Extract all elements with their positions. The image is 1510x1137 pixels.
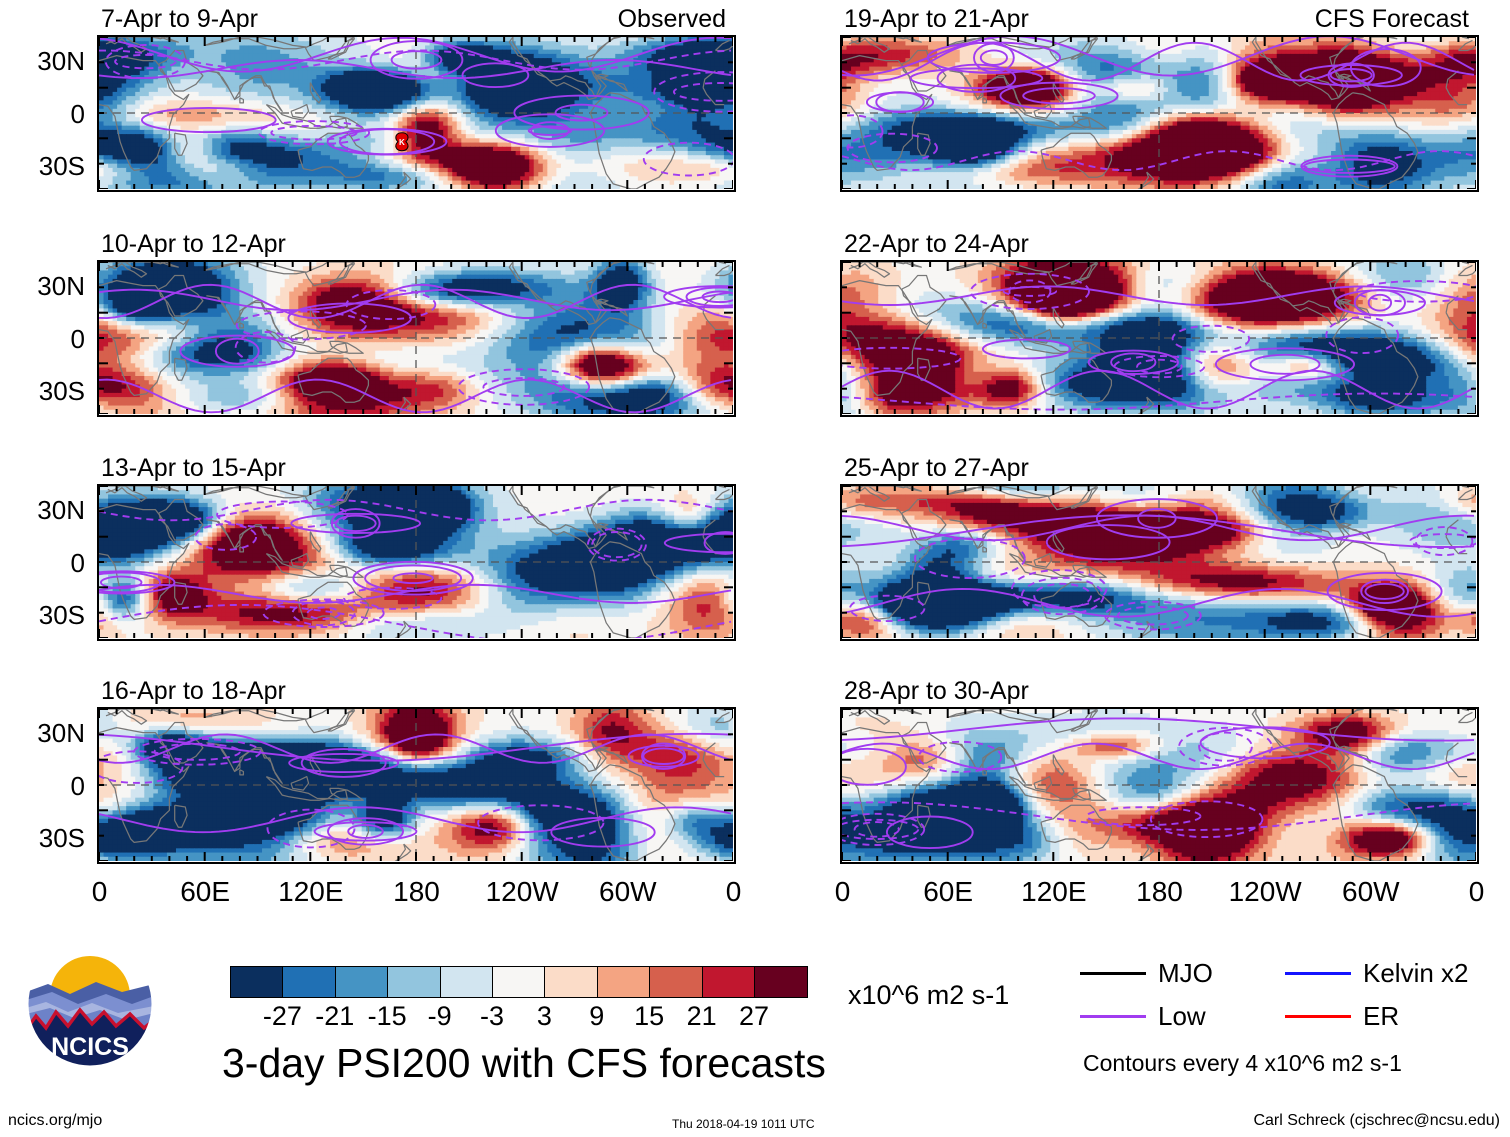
x-axis-label-left-180: 180	[357, 878, 477, 906]
map-p1: K	[97, 35, 736, 192]
x-axis-label-right-60E: 60E	[888, 878, 1008, 906]
legend-label: Kelvin x2	[1363, 960, 1469, 986]
footer-link-ncics[interactable]: ncics.org/mjo	[8, 1113, 102, 1129]
colorbar-swatch-7	[597, 966, 651, 998]
cyclone-marker: K	[396, 133, 408, 151]
colorbar-swatch-8	[649, 966, 703, 998]
panel-title-p5: 19-Apr to 21-Apr	[844, 7, 1029, 32]
y-axis-label-30S: 30S	[9, 602, 85, 628]
x-axis-label-right-180: 180	[1100, 878, 1220, 906]
panel-title-p8: 28-Apr to 30-Apr	[844, 679, 1029, 704]
colorbar-swatch-4	[440, 966, 494, 998]
x-axis-label-left-0: 0	[40, 878, 160, 906]
map-p5	[840, 35, 1479, 192]
column-header-forecast: CFS Forecast	[1315, 7, 1469, 32]
colorbar-swatch-10	[754, 966, 808, 998]
colorbar-swatch-2	[335, 966, 389, 998]
legend-item-kelvin-x2[interactable]: Kelvin x2	[1285, 960, 1469, 986]
y-axis-label-30S: 30S	[9, 378, 85, 404]
ncics-logo: NCICS	[26, 940, 154, 1068]
legend-line-er	[1285, 1015, 1351, 1018]
legend-item-er[interactable]: ER	[1285, 1003, 1399, 1029]
x-axis-label-left-120E: 120E	[251, 878, 371, 906]
map-p8	[840, 707, 1479, 864]
y-axis-label-0: 0	[9, 101, 85, 127]
y-axis-label-30S: 30S	[9, 825, 85, 851]
y-axis-label-0: 0	[9, 550, 85, 576]
x-axis-label-left-60W: 60W	[568, 878, 688, 906]
footer-author: Carl Schreck (cjschrec@ncsu.edu)	[1253, 1113, 1500, 1129]
y-axis-label-30N: 30N	[9, 720, 85, 746]
panel-title-p4: 16-Apr to 18-Apr	[101, 679, 286, 704]
column-header-observed: Observed	[618, 7, 726, 32]
colorbar-tick-27: 27	[714, 1003, 794, 1030]
colorbar-units-label: x10^6 m2 s-1	[848, 982, 1009, 1009]
legend-label: MJO	[1158, 960, 1213, 986]
footer-timestamp: Thu 2018-04-19 1011 UTC	[672, 1116, 815, 1132]
panel-title-p3: 13-Apr to 15-Apr	[101, 456, 286, 481]
legend-label: ER	[1363, 1003, 1399, 1029]
ncics-logo-svg: NCICS	[26, 940, 154, 1068]
y-axis-label-30N: 30N	[9, 273, 85, 299]
legend-item-low[interactable]: Low	[1080, 1003, 1206, 1029]
y-axis-label-30N: 30N	[9, 497, 85, 523]
panel-title-p6: 22-Apr to 24-Apr	[844, 232, 1029, 257]
y-axis-label-30S: 30S	[9, 153, 85, 179]
x-axis-label-right-120W: 120W	[1205, 878, 1325, 906]
colorbar-swatch-1	[282, 966, 336, 998]
x-axis-label-right-120E: 120E	[994, 878, 1114, 906]
x-axis-label-right-60W: 60W	[1311, 878, 1431, 906]
legend-line-kelvin-x2	[1285, 972, 1351, 975]
legend-line-mjo	[1080, 972, 1146, 975]
map-p7	[840, 484, 1479, 641]
x-axis-label-left-120W: 120W	[462, 878, 582, 906]
colorbar-swatch-6	[544, 966, 598, 998]
contour-interval-note: Contours every 4 x10^6 m2 s-1	[1083, 1052, 1402, 1075]
map-p2	[97, 260, 736, 417]
map-p4	[97, 707, 736, 864]
colorbar-swatch-0	[230, 966, 284, 998]
colorbar-swatch-9	[702, 966, 756, 998]
legend-item-mjo[interactable]: MJO	[1080, 960, 1213, 986]
logo-text: NCICS	[51, 1033, 129, 1061]
x-axis-label-right-0: 0	[1417, 878, 1510, 906]
x-axis-label-left-60E: 60E	[145, 878, 265, 906]
colorbar	[230, 966, 806, 998]
legend-line-low	[1080, 1015, 1146, 1018]
map-p3	[97, 484, 736, 641]
panel-title-p7: 25-Apr to 27-Apr	[844, 456, 1029, 481]
y-axis-label-30N: 30N	[9, 48, 85, 74]
panel-title-p2: 10-Apr to 12-Apr	[101, 232, 286, 257]
page-title: 3-day PSI200 with CFS forecasts	[222, 1043, 826, 1084]
colorbar-swatch-5	[492, 966, 546, 998]
y-axis-label-0: 0	[9, 773, 85, 799]
panel-title-p1: 7-Apr to 9-Apr	[101, 7, 258, 32]
map-p6	[840, 260, 1479, 417]
x-axis-label-left-0: 0	[674, 878, 794, 906]
colorbar-swatch-3	[387, 966, 441, 998]
y-axis-label-0: 0	[9, 326, 85, 352]
legend-label: Low	[1158, 1003, 1206, 1029]
x-axis-label-right-0: 0	[783, 878, 903, 906]
